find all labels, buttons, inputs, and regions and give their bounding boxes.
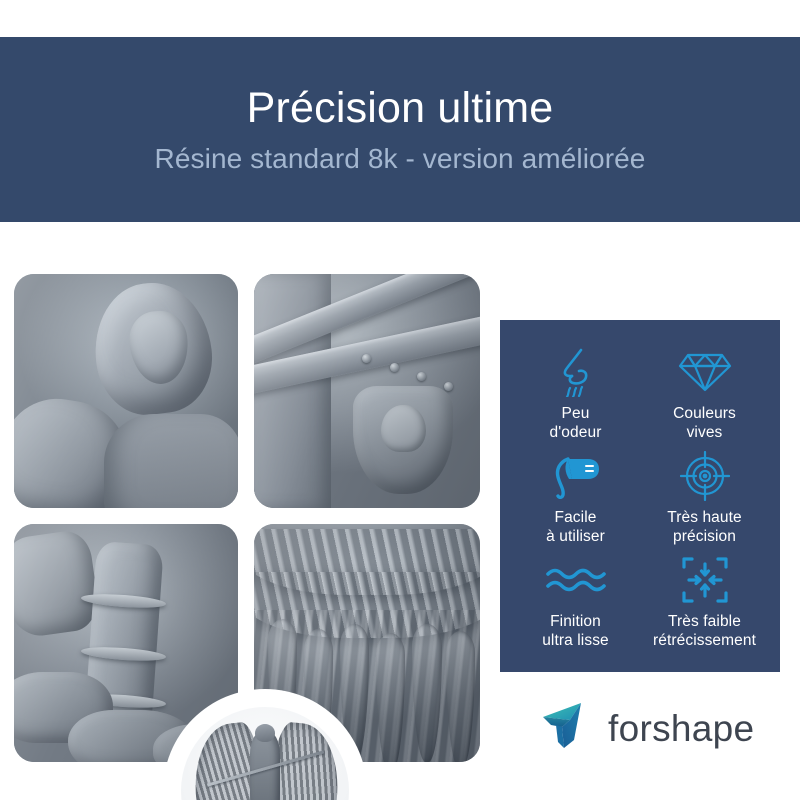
feature-tres-faible-retrecissement: Très faible rétrécissement [643, 552, 766, 654]
feature-label: Peu d'odeur [550, 404, 602, 442]
hooded-face-closeup [14, 274, 238, 508]
feature-tres-haute-precision: Très haute précision [643, 448, 766, 550]
feature-finition-ultra-lisse: Finition ultra lisse [514, 552, 637, 654]
gallery-tile-strap-armor[interactable] [254, 274, 480, 508]
diamond-icon [677, 344, 733, 400]
product-image-gallery [14, 274, 480, 762]
figure-head [255, 724, 275, 742]
nose-odor-icon [553, 344, 599, 400]
page-title: Précision ultime [247, 84, 554, 132]
waves-icon [546, 552, 606, 608]
strap-rivet [417, 372, 426, 381]
page-subtitle: Résine standard 8k - version améliorée [155, 143, 646, 175]
crest-skull-ornament [381, 405, 426, 452]
strap-rivet [390, 363, 399, 372]
torso-shape [104, 414, 238, 508]
feature-label: Facile à utiliser [546, 508, 605, 546]
feature-couleurs-vives: Couleurs vives [643, 344, 766, 446]
strap-rivet [444, 382, 453, 391]
feature-label: Très faible rétrécissement [653, 612, 756, 650]
brand-logo[interactable]: forshape [540, 700, 754, 757]
pouring-bottle-icon [550, 448, 602, 504]
feature-peu-d-odeur: Peu d'odeur [514, 344, 637, 446]
poster-root: Précision ultime Résine standard 8k - ve… [0, 0, 800, 800]
header-banner: Précision ultime Résine standard 8k - ve… [0, 37, 800, 222]
feature-label: Très haute précision [667, 508, 742, 546]
strap-armor-closeup [254, 274, 480, 508]
full-miniature-photo [181, 707, 349, 800]
crosshair-target-icon [680, 448, 730, 504]
feature-facile-a-utiliser: Facile à utiliser [514, 448, 637, 550]
gallery-tile-hooded-face[interactable] [14, 274, 238, 508]
shrink-arrows-icon [680, 552, 730, 608]
shield-edge [14, 528, 101, 639]
logo-wordmark: forshape [608, 708, 754, 750]
features-panel: Peu d'odeur Couleurs vives [500, 320, 780, 672]
forshape-arrow-logo-icon [540, 700, 594, 757]
feature-label: Couleurs vives [673, 404, 736, 442]
feature-label: Finition ultra lisse [542, 612, 609, 650]
